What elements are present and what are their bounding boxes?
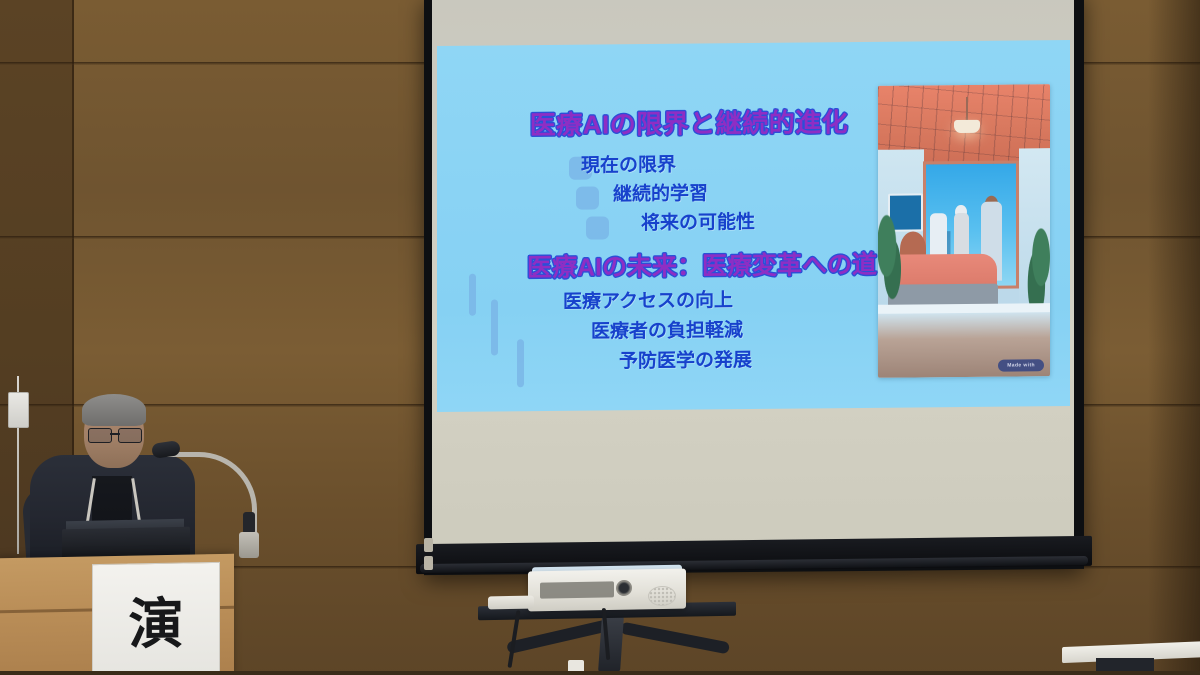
made-with-badge: Made with	[998, 359, 1044, 371]
slide-illustration-hospital-room: Made with	[878, 84, 1050, 378]
projector-remote[interactable]	[488, 596, 534, 610]
projector-stand-column	[598, 616, 624, 672]
microphone-joint	[243, 512, 255, 534]
microphone-base	[239, 532, 259, 558]
bullet-item: 将来の可能性	[641, 208, 867, 239]
floor-line	[0, 671, 1200, 675]
presentation-slide: 医療AIの限界と継続的進化 現在の限界 継続的学習 将来の可能性 医療AIの未来…	[437, 40, 1070, 412]
projector-ports[interactable]	[540, 581, 614, 598]
bullet-item: 予防医学の発展	[619, 345, 883, 378]
slide-subtitle: 医療AIの未来：医療変革への道	[467, 244, 937, 285]
speaker-hair	[82, 394, 146, 426]
slide-bullet-list-two: 医療アクセスの向上 医療者の負担軽減 予防医学の発展	[533, 285, 883, 378]
illustration-lamp-stem	[966, 97, 968, 123]
bar-bullet-icon	[517, 339, 524, 387]
bullet-item: 現在の限界	[581, 150, 867, 182]
slide-bullet-list-one: 現在の限界 継続的学習 将来の可能性	[537, 150, 867, 240]
wall-device[interactable]	[8, 392, 29, 428]
glasses-lens-right	[118, 428, 142, 443]
screen-hook	[424, 538, 433, 552]
bullet-item: 医療アクセスの向上	[563, 285, 883, 318]
speaker-glasses	[88, 428, 142, 441]
illustration-plant-right	[1024, 213, 1050, 313]
bullet-item: 医療者の負担軽減	[591, 315, 883, 348]
illustration-plant-left	[878, 208, 904, 302]
illustration-lamp	[954, 120, 980, 133]
slide-title: 医療AIの限界と継続的進化	[489, 102, 889, 143]
podium-sign: 演	[92, 562, 220, 675]
podium-sign-text: 演	[128, 579, 183, 660]
screen-hook	[424, 556, 433, 570]
lecture-hall-photo: 医療AIの限界と継続的進化 現在の限界 継続的学習 将来の可能性 医療AIの未来…	[0, 0, 1200, 675]
wall-shadow-right	[1148, 0, 1200, 675]
glasses-lens-left	[88, 428, 112, 443]
bullet-item: 継続的学習	[613, 179, 867, 210]
bar-bullet-icon	[491, 299, 498, 355]
